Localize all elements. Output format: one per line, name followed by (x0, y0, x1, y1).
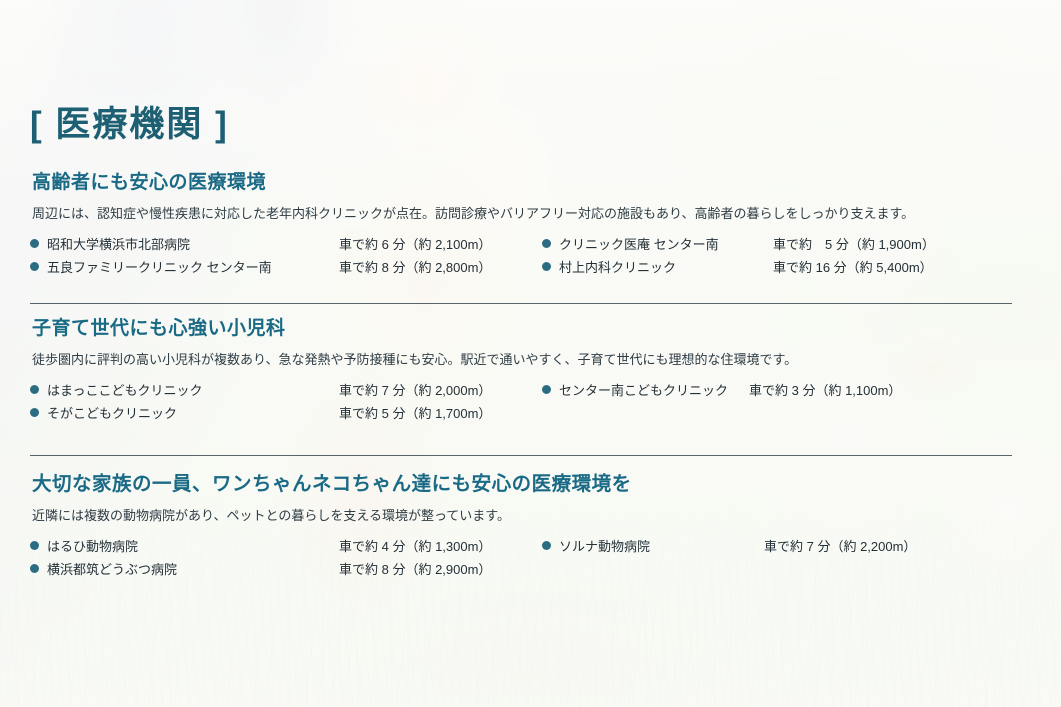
poi-column-left: はるひ動物病院 車で約 4 分（約 1,300m） 横浜都筑どうぶつ病院 車で約… (30, 538, 542, 579)
section-divider (30, 303, 1012, 304)
section-description: 近隣には複数の動物病院があり、ペットとの暮らしを支える環境が整っています。 (32, 506, 1032, 526)
section-pet-care: 大切な家族の一員、ワンちゃんネコちゃん達にも安心の医療環境を 近隣には複数の動物… (30, 467, 1032, 579)
poi-distance: 車で約 16 分（約 5,400m） (773, 259, 933, 277)
poi-distance: 車で約 7 分（約 2,200m） (764, 538, 916, 556)
poi-distance: 車で約 4 分（約 1,300m） (339, 538, 491, 556)
section-heading: 高齢者にも安心の医療環境 (32, 167, 1032, 194)
bullet-icon (30, 385, 39, 394)
bullet-icon (542, 385, 551, 394)
section-heading: 子育て世代にも心強い小児科 (32, 313, 1032, 340)
poi-distance: 車で約 6 分（約 2,100m） (339, 236, 491, 254)
poi-distance: 車で約 5 分（約 1,900m） (773, 236, 935, 254)
bullet-icon (30, 239, 39, 248)
poi-columns: はるひ動物病院 車で約 4 分（約 1,300m） 横浜都筑どうぶつ病院 車で約… (30, 538, 1032, 579)
poi-column-left: はまっここどもクリニック 車で約 7 分（約 2,000m） そがこどもクリニッ… (30, 382, 542, 423)
poi-columns: 昭和大学横浜市北部病院 車で約 6 分（約 2,100m） 五良ファミリークリニ… (30, 236, 1032, 277)
section-heading: 大切な家族の一員、ワンちゃんネコちゃん達にも安心の医療環境を (32, 467, 1032, 496)
poi-distance: 車で約 8 分（約 2,900m） (339, 561, 491, 579)
list-item[interactable]: 五良ファミリークリニック センター南 車で約 8 分（約 2,800m） (30, 259, 542, 277)
poi-name: はまっここどもクリニック (47, 382, 339, 400)
poi-name: 五良ファミリークリニック センター南 (47, 259, 339, 277)
section-pediatrics: 子育て世代にも心強い小児科 徒歩圏内に評判の高い小児科が複数あり、急な発熱や予防… (30, 313, 1032, 423)
list-item[interactable]: クリニック医庵 センター南 車で約 5 分（約 1,900m） (542, 236, 1032, 254)
poi-column-right: センター南こどもクリニック 車で約 3 分（約 1,100m） (542, 382, 1032, 423)
bullet-icon (542, 262, 551, 271)
medical-facilities-page: [ 医療機関 ] 高齢者にも安心の医療環境 周辺には、認知症や慢性疾患に対応した… (0, 0, 1061, 707)
section-divider (30, 455, 1012, 456)
poi-distance: 車で約 3 分（約 1,100m） (749, 382, 901, 400)
poi-columns: はまっここどもクリニック 車で約 7 分（約 2,000m） そがこどもクリニッ… (30, 382, 1032, 423)
poi-distance: 車で約 7 分（約 2,000m） (339, 382, 491, 400)
poi-name: 村上内科クリニック (559, 259, 773, 277)
bullet-icon (30, 541, 39, 550)
list-item[interactable]: 昭和大学横浜市北部病院 車で約 6 分（約 2,100m） (30, 236, 542, 254)
poi-name: そがこどもクリニック (47, 405, 339, 423)
list-item[interactable]: 村上内科クリニック 車で約 16 分（約 5,400m） (542, 259, 1032, 277)
poi-column-right: ソルナ動物病院 車で約 7 分（約 2,200m） (542, 538, 1032, 579)
poi-distance: 車で約 8 分（約 2,800m） (339, 259, 491, 277)
section-elderly-care: 高齢者にも安心の医療環境 周辺には、認知症や慢性疾患に対応した老年内科クリニック… (30, 167, 1032, 277)
poi-column-left: 昭和大学横浜市北部病院 車で約 6 分（約 2,100m） 五良ファミリークリニ… (30, 236, 542, 277)
bullet-icon (542, 239, 551, 248)
bullet-icon (542, 541, 551, 550)
bullet-icon (30, 564, 39, 573)
list-item[interactable]: はまっここどもクリニック 車で約 7 分（約 2,000m） (30, 382, 542, 400)
poi-name: センター南こどもクリニック (559, 382, 749, 400)
bullet-icon (30, 408, 39, 417)
poi-column-right: クリニック医庵 センター南 車で約 5 分（約 1,900m） 村上内科クリニッ… (542, 236, 1032, 277)
poi-distance: 車で約 5 分（約 1,700m） (339, 405, 491, 423)
poi-name: クリニック医庵 センター南 (559, 236, 773, 254)
list-item[interactable]: はるひ動物病院 車で約 4 分（約 1,300m） (30, 538, 542, 556)
poi-name: ソルナ動物病院 (559, 538, 764, 556)
poi-name: 横浜都筑どうぶつ病院 (47, 561, 339, 579)
page-title: [ 医療機関 ] (30, 96, 229, 147)
poi-name: 昭和大学横浜市北部病院 (47, 236, 339, 254)
list-item[interactable]: センター南こどもクリニック 車で約 3 分（約 1,100m） (542, 382, 1032, 400)
bullet-icon (30, 262, 39, 271)
poi-name: はるひ動物病院 (47, 538, 339, 556)
list-item[interactable]: そがこどもクリニック 車で約 5 分（約 1,700m） (30, 405, 542, 423)
section-description: 周辺には、認知症や慢性疾患に対応した老年内科クリニックが点在。訪問診療やバリアフ… (32, 204, 1032, 224)
section-description: 徒歩圏内に評判の高い小児科が複数あり、急な発熱や予防接種にも安心。駅近で通いやす… (32, 350, 1032, 370)
list-item[interactable]: ソルナ動物病院 車で約 7 分（約 2,200m） (542, 538, 1032, 556)
list-item[interactable]: 横浜都筑どうぶつ病院 車で約 8 分（約 2,900m） (30, 561, 542, 579)
